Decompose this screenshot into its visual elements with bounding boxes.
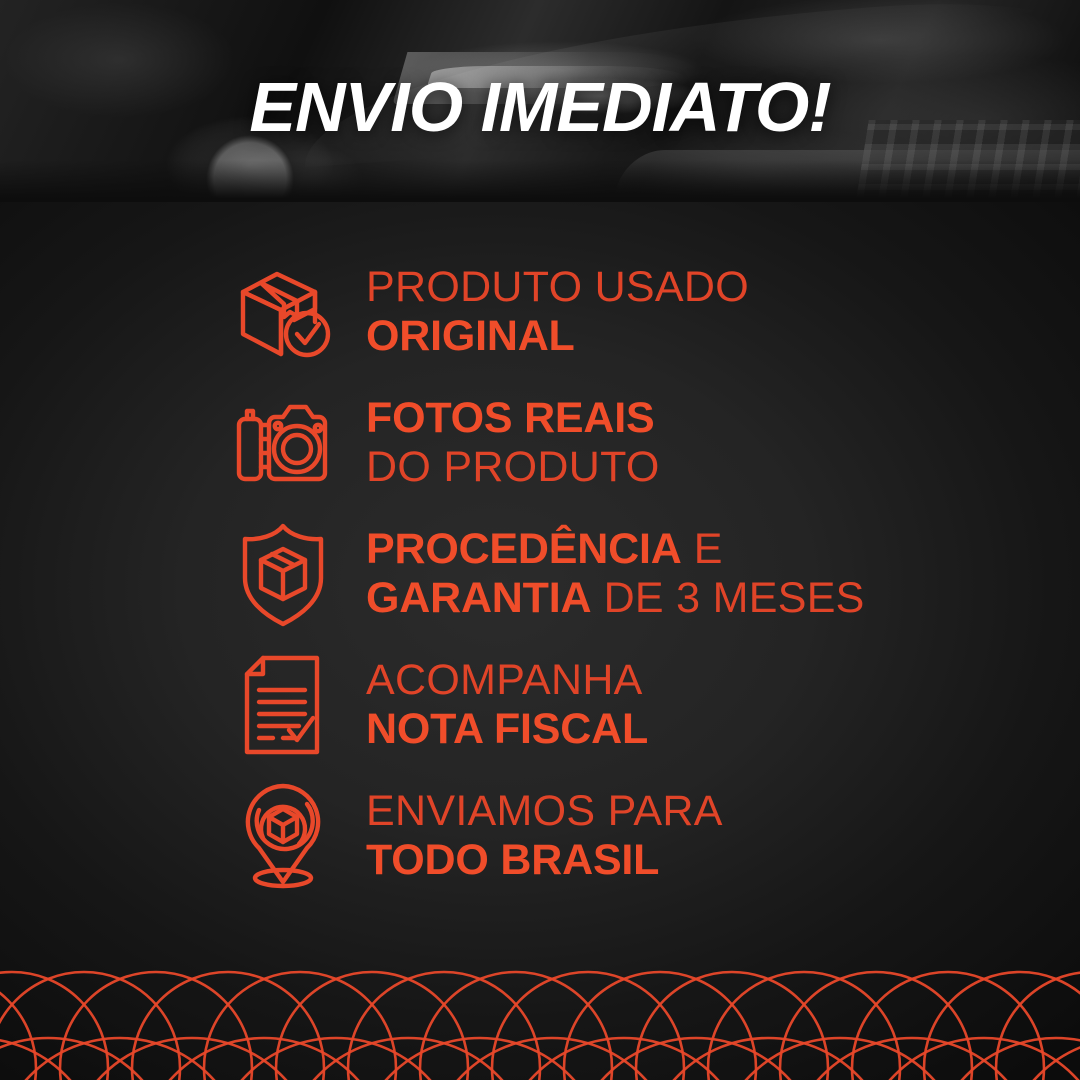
feature-text-segment: PROCEDÊNCIA bbox=[366, 525, 682, 573]
feature-text-segment: TODO BRASIL bbox=[366, 836, 659, 884]
feature-text-segment: DE 3 MESES bbox=[591, 574, 864, 622]
hero-banner: ENVIO IMEDIATO! bbox=[0, 0, 1080, 202]
overlapping-circles-pattern bbox=[0, 920, 1080, 1080]
feature-item: ENVIAMOS PARA TODO BRASIL bbox=[224, 770, 1080, 901]
feature-text: PROCEDÊNCIA E GARANTIA DE 3 MESES bbox=[342, 528, 865, 620]
features-list: PRODUTO USADO ORIGINAL bbox=[224, 246, 1080, 901]
feature-text-segment: E bbox=[682, 525, 723, 573]
feature-item: PROCEDÊNCIA E GARANTIA DE 3 MESES bbox=[224, 508, 1080, 639]
feature-item: FOTOS REAIS DO PRODUTO bbox=[224, 377, 1080, 508]
feature-text-segment: GARANTIA bbox=[366, 574, 591, 622]
feature-text-segment: DO PRODUTO bbox=[366, 443, 660, 491]
feature-item: ACOMPANHA NOTA FISCAL bbox=[224, 639, 1080, 770]
feature-text-segment: FOTOS REAIS bbox=[366, 394, 655, 442]
feature-line-2: NOTA FISCAL bbox=[366, 708, 648, 751]
feature-line-2: DO PRODUTO bbox=[366, 446, 660, 489]
camera-icon bbox=[224, 399, 342, 487]
feature-item: PRODUTO USADO ORIGINAL bbox=[224, 246, 1080, 377]
box-check-icon bbox=[224, 264, 342, 360]
feature-text-segment: NOTA FISCAL bbox=[366, 705, 648, 753]
feature-text-segment: PRODUTO USADO bbox=[366, 263, 749, 311]
feature-line-1: ACOMPANHA bbox=[366, 659, 648, 702]
shield-box-icon bbox=[224, 520, 342, 628]
feature-text-segment: ORIGINAL bbox=[366, 312, 575, 360]
feature-text-segment: ENVIAMOS PARA bbox=[366, 787, 723, 835]
feature-text-segment: ACOMPANHA bbox=[366, 656, 643, 704]
feature-text: ACOMPANHA NOTA FISCAL bbox=[342, 659, 648, 751]
feature-text: ENVIAMOS PARA TODO BRASIL bbox=[342, 790, 723, 882]
feature-line-1: PRODUTO USADO bbox=[366, 266, 749, 309]
invoice-document-icon bbox=[224, 652, 342, 758]
feature-line-1: ENVIAMOS PARA bbox=[366, 790, 723, 833]
feature-line-2: ORIGINAL bbox=[366, 315, 749, 358]
feature-text: FOTOS REAIS DO PRODUTO bbox=[342, 397, 660, 489]
hero-title: ENVIO IMEDIATO! bbox=[0, 0, 1080, 202]
map-pin-box-icon bbox=[224, 780, 342, 892]
feature-line-2: TODO BRASIL bbox=[366, 839, 723, 882]
promo-banner: ENVIO IMEDIATO! bbox=[0, 0, 1080, 1080]
feature-line-1: FOTOS REAIS bbox=[366, 397, 660, 440]
feature-line-1: PROCEDÊNCIA E bbox=[366, 528, 865, 571]
feature-line-2: GARANTIA DE 3 MESES bbox=[366, 577, 865, 620]
feature-text: PRODUTO USADO ORIGINAL bbox=[342, 266, 749, 358]
